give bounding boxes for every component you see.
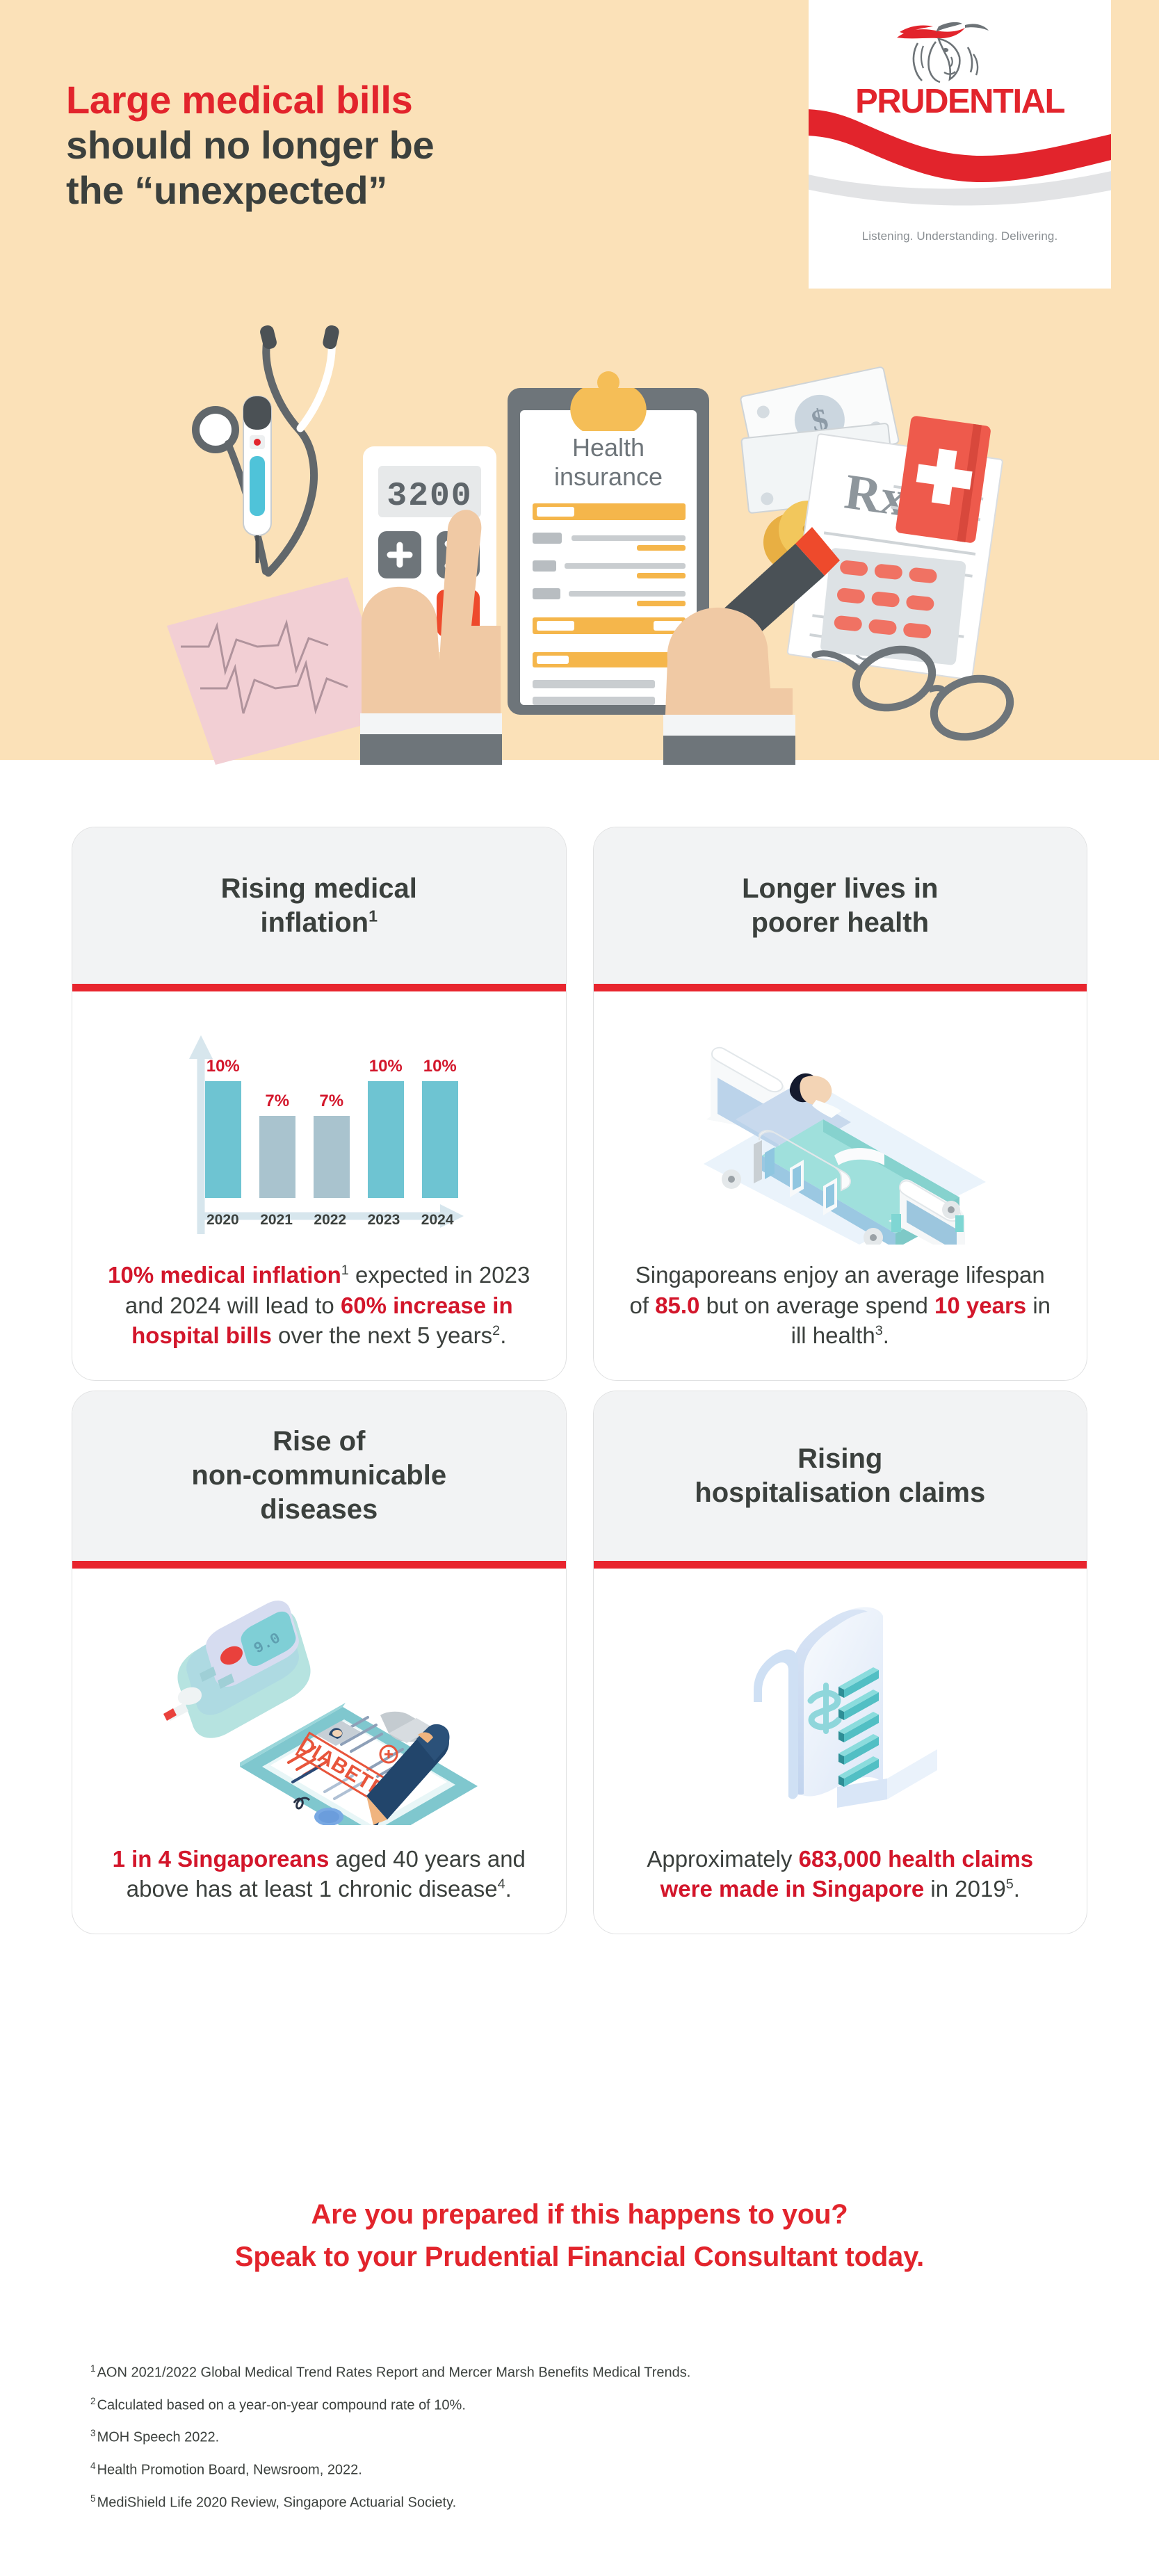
chart-bar-value: 10% xyxy=(206,1057,240,1076)
card-accent-rule xyxy=(72,984,566,991)
card-caption: 10% medical inflation1 expected in 2023 … xyxy=(103,1245,535,1351)
card-title-line-2: poorer health xyxy=(751,907,929,938)
card-figure xyxy=(624,1015,1057,1245)
svg-text:Health: Health xyxy=(572,433,645,462)
footnote-item: 3MOH Speech 2022. xyxy=(90,2429,1078,2445)
footnote-text: Health Promotion Board, Newsroom, 2022. xyxy=(97,2463,362,2478)
footnote-marker: 3 xyxy=(90,2428,96,2438)
card-caption: 1 in 4 Singaporeans aged 40 years and ab… xyxy=(103,1829,535,1904)
chart-x-tick: 2020 xyxy=(205,1212,241,1229)
card-figure: 10% 7% 7% 1 xyxy=(103,1015,535,1245)
chart-bar xyxy=(205,1081,241,1198)
footnote-text: MOH Speech 2022. xyxy=(97,2430,220,2445)
footnote-marker: 5 xyxy=(90,2493,96,2504)
chart-bar-column: 7% xyxy=(314,1044,350,1198)
stats-card-grid: Rising medical inflation1 xyxy=(0,760,1159,1934)
card-body: 9.0 xyxy=(72,1569,566,1934)
card-header: Longer lives in poorer health xyxy=(594,827,1087,984)
chart-bar-value: 7% xyxy=(319,1092,343,1111)
card-rise-of-non-communicable-diseases: Rise of non-communicable diseases xyxy=(72,1391,567,1934)
cta-line-1: Are you prepared if this happens to you? xyxy=(0,2194,1159,2236)
footnote-marker: 4 xyxy=(90,2461,96,2471)
card-caption: Singaporeans enjoy an average lifespan o… xyxy=(624,1245,1057,1351)
footnote-item: 1AON 2021/2022 Global Medical Trend Rate… xyxy=(90,2364,1078,2380)
card-title-line-1: Rise of xyxy=(273,1426,365,1457)
call-to-action: Are you prepared if this happens to you?… xyxy=(0,2194,1159,2278)
chart-bar-value: 10% xyxy=(369,1057,403,1076)
diabetes-clipboard-icon: 9.0 xyxy=(159,1596,479,1825)
footnote-text: Calculated based on a year-on-year compo… xyxy=(97,2397,466,2413)
chart-x-tick: 2023 xyxy=(366,1212,401,1229)
card-figure: 9.0 xyxy=(103,1592,535,1829)
footnote-item: 2Calculated based on a year-on-year comp… xyxy=(90,2397,1078,2413)
chart-bars: 10% 7% 7% 1 xyxy=(205,1044,455,1198)
card-longer-lives-poorer-health: Longer lives in poorer health xyxy=(593,827,1088,1381)
card-title: Rising hospitalisation claims xyxy=(695,1442,985,1510)
glucose-meter-icon: 9.0 xyxy=(163,1601,311,1738)
card-body: 10% 7% 7% 1 xyxy=(72,991,566,1380)
card-header: Rising hospitalisation claims xyxy=(594,1391,1087,1561)
hospital-bed-icon xyxy=(687,1015,993,1245)
headline-line-1: Large medical bills xyxy=(66,78,553,123)
chart-x-axis-labels: 2020 2021 2022 2023 2024 xyxy=(205,1212,455,1229)
card-title-line-2: hospitalisation claims xyxy=(695,1477,985,1508)
card-row-2: Rise of non-communicable diseases xyxy=(0,1381,1159,1934)
footnote-item: 5MediShield Life 2020 Review, Singapore … xyxy=(90,2494,1078,2510)
chart-bar xyxy=(259,1116,295,1198)
card-title: Rising medical inflation1 xyxy=(221,872,417,940)
chart-bar-column: 10% xyxy=(205,1044,241,1198)
chart-bar-column: 7% xyxy=(259,1044,295,1198)
card-title-line-3: diseases xyxy=(260,1494,378,1525)
svg-text:insurance: insurance xyxy=(554,462,663,491)
footnote-text: MediShield Life 2020 Review, Singapore A… xyxy=(97,2495,457,2510)
chart-x-tick: 2022 xyxy=(312,1212,348,1229)
card-figure xyxy=(624,1592,1057,1829)
card-accent-rule xyxy=(72,1561,566,1569)
headline-line-2: should no longer be xyxy=(66,123,553,168)
hero-banner: Large medical bills should no longer be … xyxy=(0,0,1159,760)
card-title-line-2: inflation xyxy=(261,907,369,938)
chart-bar xyxy=(422,1081,458,1198)
chart-bar-value: 10% xyxy=(423,1057,457,1076)
chart-bar-value: 7% xyxy=(265,1092,289,1111)
card-title-line-1: Longer lives in xyxy=(742,873,938,904)
card-title: Longer lives in poorer health xyxy=(742,872,938,940)
chart-bar-column: 10% xyxy=(422,1044,458,1198)
footnote-marker: 1 xyxy=(90,2363,96,2374)
health-insurance-illustration: 3200 $ xyxy=(139,299,1043,765)
card-accent-rule xyxy=(594,984,1087,991)
chart-bar xyxy=(368,1081,404,1198)
medical-bill-receipt-icon xyxy=(729,1592,951,1829)
cta-line-2: Speak to your Prudential Financial Consu… xyxy=(0,2236,1159,2278)
footnotes-list: 1AON 2021/2022 Global Medical Trend Rate… xyxy=(90,2364,1078,2526)
chart-bar xyxy=(314,1116,350,1198)
card-header: Rise of non-communicable diseases xyxy=(72,1391,566,1561)
chart-bar-column: 10% xyxy=(368,1044,404,1198)
logo-swoosh-icon xyxy=(809,103,1111,207)
card-title-footnote-marker: 1 xyxy=(368,907,378,925)
card-accent-rule xyxy=(594,1561,1087,1569)
thermometer-icon xyxy=(243,396,271,563)
footnote-marker: 2 xyxy=(90,2396,96,2406)
card-title-line-2: non-communicable xyxy=(191,1460,446,1491)
svg-text:3200: 3200 xyxy=(387,478,472,515)
page-title: Large medical bills should no longer be … xyxy=(66,78,553,213)
clipboard-document-icon: DIABETES xyxy=(240,1703,478,1825)
card-row-1: Rising medical inflation1 xyxy=(0,760,1159,1381)
chart-x-tick: 2021 xyxy=(259,1212,294,1229)
headline-line-3: the “unexpected” xyxy=(66,168,553,213)
card-title: Rise of non-communicable diseases xyxy=(191,1425,446,1526)
prudential-logo: PRUDENTIAL Listening. Understanding. Del… xyxy=(809,0,1111,289)
card-title-line-1: Rising xyxy=(797,1443,882,1474)
card-rising-medical-inflation: Rising medical inflation1 xyxy=(72,827,567,1381)
card-header: Rising medical inflation1 xyxy=(72,827,566,984)
footnote-text: AON 2021/2022 Global Medical Trend Rates… xyxy=(97,2365,691,2381)
medical-inflation-bar-chart: 10% 7% 7% 1 xyxy=(173,1026,465,1234)
card-title-line-1: Rising medical xyxy=(221,873,417,904)
card-body: Singaporeans enjoy an average lifespan o… xyxy=(594,991,1087,1380)
card-caption: Approximately 683,000 health claims were… xyxy=(624,1829,1057,1904)
card-rising-hospitalisation-claims: Rising hospitalisation claims xyxy=(593,1391,1088,1934)
first-aid-card-icon xyxy=(895,415,991,543)
chart-x-tick: 2024 xyxy=(420,1212,455,1229)
card-body: Approximately 683,000 health claims were… xyxy=(594,1569,1087,1934)
footnote-item: 4Health Promotion Board, Newsroom, 2022. xyxy=(90,2461,1078,2477)
logo-tagline: Listening. Understanding. Delivering. xyxy=(809,229,1111,243)
